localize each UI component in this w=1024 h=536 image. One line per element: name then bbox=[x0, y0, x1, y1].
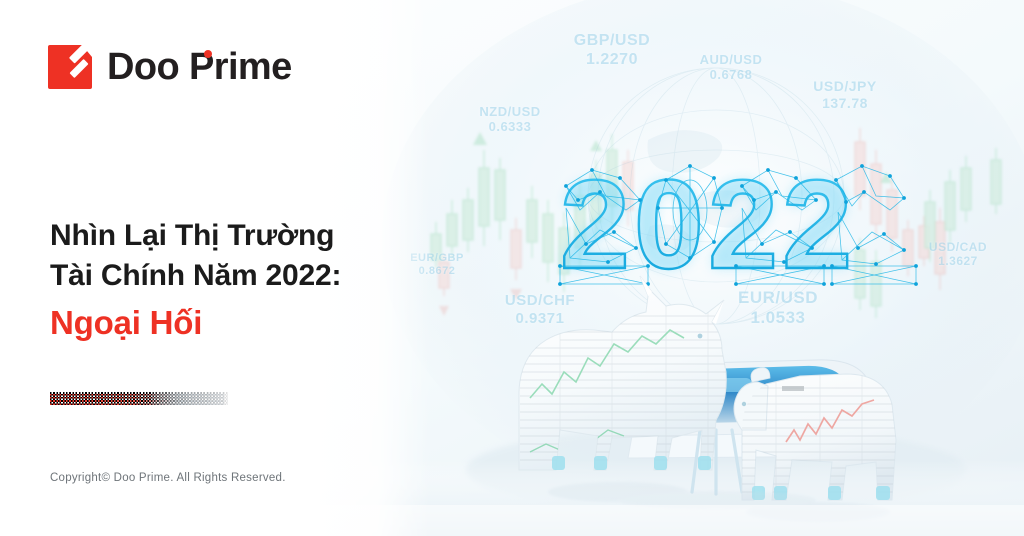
fx-pair-label: USD/JPY bbox=[793, 78, 897, 95]
fx-quote-usd-chf: USD/CHF0.9371 bbox=[488, 292, 592, 327]
fx-quote-aud-usd: AUD/USD0.6768 bbox=[679, 52, 783, 83]
fx-rate-value: 0.9371 bbox=[488, 310, 592, 328]
banner-root: 2022 2022 2022 bbox=[0, 0, 1024, 536]
fx-quote-eur-usd: EUR/USD1.0533 bbox=[726, 288, 830, 328]
fx-pair-label: GBP/USD bbox=[560, 32, 664, 51]
brand-wordmark-text: Doo Prime bbox=[107, 46, 292, 88]
page-title: Nhìn Lại Thị Trường Tài Chính Năm 2022: … bbox=[50, 216, 341, 345]
fx-rate-value: 1.2270 bbox=[560, 51, 664, 70]
headline-accent: Ngoại Hối bbox=[50, 301, 341, 345]
copyright-text: Copyright© Doo Prime. All Rights Reserve… bbox=[50, 472, 286, 484]
fx-rate-value: 0.6768 bbox=[679, 67, 783, 82]
brand-wordmark: Doo Prime bbox=[107, 48, 292, 86]
fx-pair-label: NZD/USD bbox=[458, 104, 562, 119]
headline-line-2: Tài Chính Năm 2022: bbox=[50, 256, 341, 296]
brand-accent-dot bbox=[204, 50, 212, 58]
doo-prime-mark-icon bbox=[48, 45, 92, 89]
fx-quote-gbp-usd: GBP/USD1.2270 bbox=[560, 32, 664, 70]
fx-pair-label: USD/CHF bbox=[488, 292, 592, 310]
brand-logo[interactable]: Doo Prime bbox=[48, 45, 292, 89]
fx-rate-value: 0.6333 bbox=[458, 119, 562, 134]
headline-line-1: Nhìn Lại Thị Trường bbox=[50, 216, 341, 256]
fx-pair-label: USD/CAD bbox=[906, 240, 1010, 254]
fx-pair-label: EUR/USD bbox=[726, 288, 830, 308]
fx-quote-nzd-usd: NZD/USD0.6333 bbox=[458, 104, 562, 135]
fx-quote-usd-jpy: USD/JPY137.78 bbox=[793, 78, 897, 111]
fx-rate-value: 137.78 bbox=[793, 95, 897, 112]
fx-rate-value: 1.3627 bbox=[906, 254, 1010, 268]
fx-rate-value: 1.0533 bbox=[726, 308, 830, 328]
fx-quote-usd-cad: USD/CAD1.3627 bbox=[906, 240, 1010, 268]
fx-pair-label: AUD/USD bbox=[679, 52, 783, 67]
decorative-rule-tail bbox=[152, 392, 224, 405]
